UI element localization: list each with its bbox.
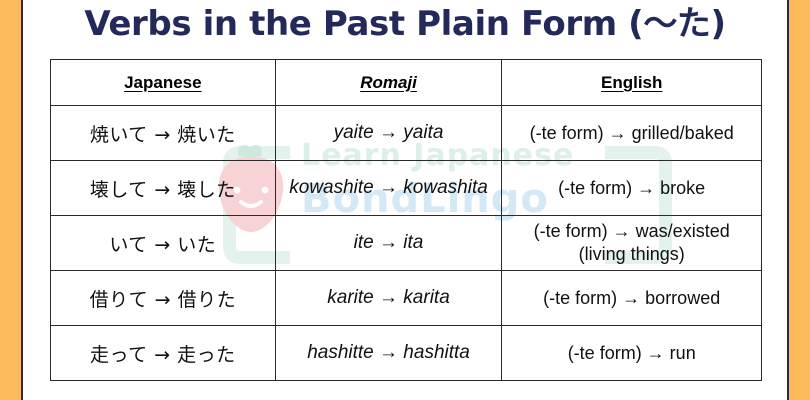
table-header-row: Japanese Romaji English	[51, 60, 762, 106]
decorative-band-right	[787, 0, 810, 400]
cell-japanese: 焼いて → 焼いた	[51, 106, 276, 161]
verb-conjugation-table: Japanese Romaji English 焼いて → 焼いた yaite …	[50, 59, 762, 381]
cell-english: (-te form) → run	[502, 326, 762, 381]
cell-english-main: (-te form) → borrowed	[543, 288, 720, 308]
column-header-japanese: Japanese	[51, 60, 276, 106]
cell-english: (-te form) → grilled/baked	[502, 106, 762, 161]
column-header-romaji-label: Romaji	[360, 73, 417, 92]
decorative-band-left	[0, 0, 23, 400]
table-body: 焼いて → 焼いた yaite → yaita (-te form) → gri…	[51, 106, 762, 381]
table-row: いて → いた ite → ita (-te form) → was/exist…	[51, 216, 762, 271]
cell-romaji: ite → ita	[275, 216, 502, 271]
cell-english: (-te form) → broke	[502, 161, 762, 216]
cell-romaji: kowashite → kowashita	[275, 161, 502, 216]
table-row: 焼いて → 焼いた yaite → yaita (-te form) → gri…	[51, 106, 762, 161]
page-title: Verbs in the Past Plain Form (〜た)	[23, 1, 787, 47]
cell-japanese: 借りて → 借りた	[51, 271, 276, 326]
table-row: 借りて → 借りた karite → karita (-te form) → b…	[51, 271, 762, 326]
cell-english: (-te form) → borrowed	[502, 271, 762, 326]
cell-japanese: 壊して → 壊した	[51, 161, 276, 216]
table-header: Japanese Romaji English	[51, 60, 762, 106]
table-row: 壊して → 壊した kowashite → kowashita (-te for…	[51, 161, 762, 216]
page-root: Verbs in the Past Plain Form (〜た) Learn …	[0, 0, 810, 400]
cell-japanese: 走って → 走った	[51, 326, 276, 381]
column-header-english-label: English	[601, 73, 662, 92]
column-header-japanese-label: Japanese	[124, 73, 202, 92]
cell-english-main: (-te form) → was/existed	[534, 221, 730, 241]
cell-japanese: いて → いた	[51, 216, 276, 271]
cell-english-main: (-te form) → broke	[558, 178, 705, 198]
content-stage: Verbs in the Past Plain Form (〜た) Learn …	[23, 0, 787, 400]
cell-english-main: (-te form) → grilled/baked	[530, 123, 734, 143]
cell-romaji: yaite → yaita	[275, 106, 502, 161]
column-header-english: English	[502, 60, 762, 106]
cell-romaji: karite → karita	[275, 271, 502, 326]
cell-english-sub: (living things)	[502, 243, 761, 266]
cell-english-main: (-te form) → run	[568, 343, 696, 363]
column-header-romaji: Romaji	[275, 60, 502, 106]
cell-romaji: hashitte → hashitta	[275, 326, 502, 381]
cell-english: (-te form) → was/existed (living things)	[502, 216, 762, 271]
table-row: 走って → 走った hashitte → hashitta (-te form)…	[51, 326, 762, 381]
